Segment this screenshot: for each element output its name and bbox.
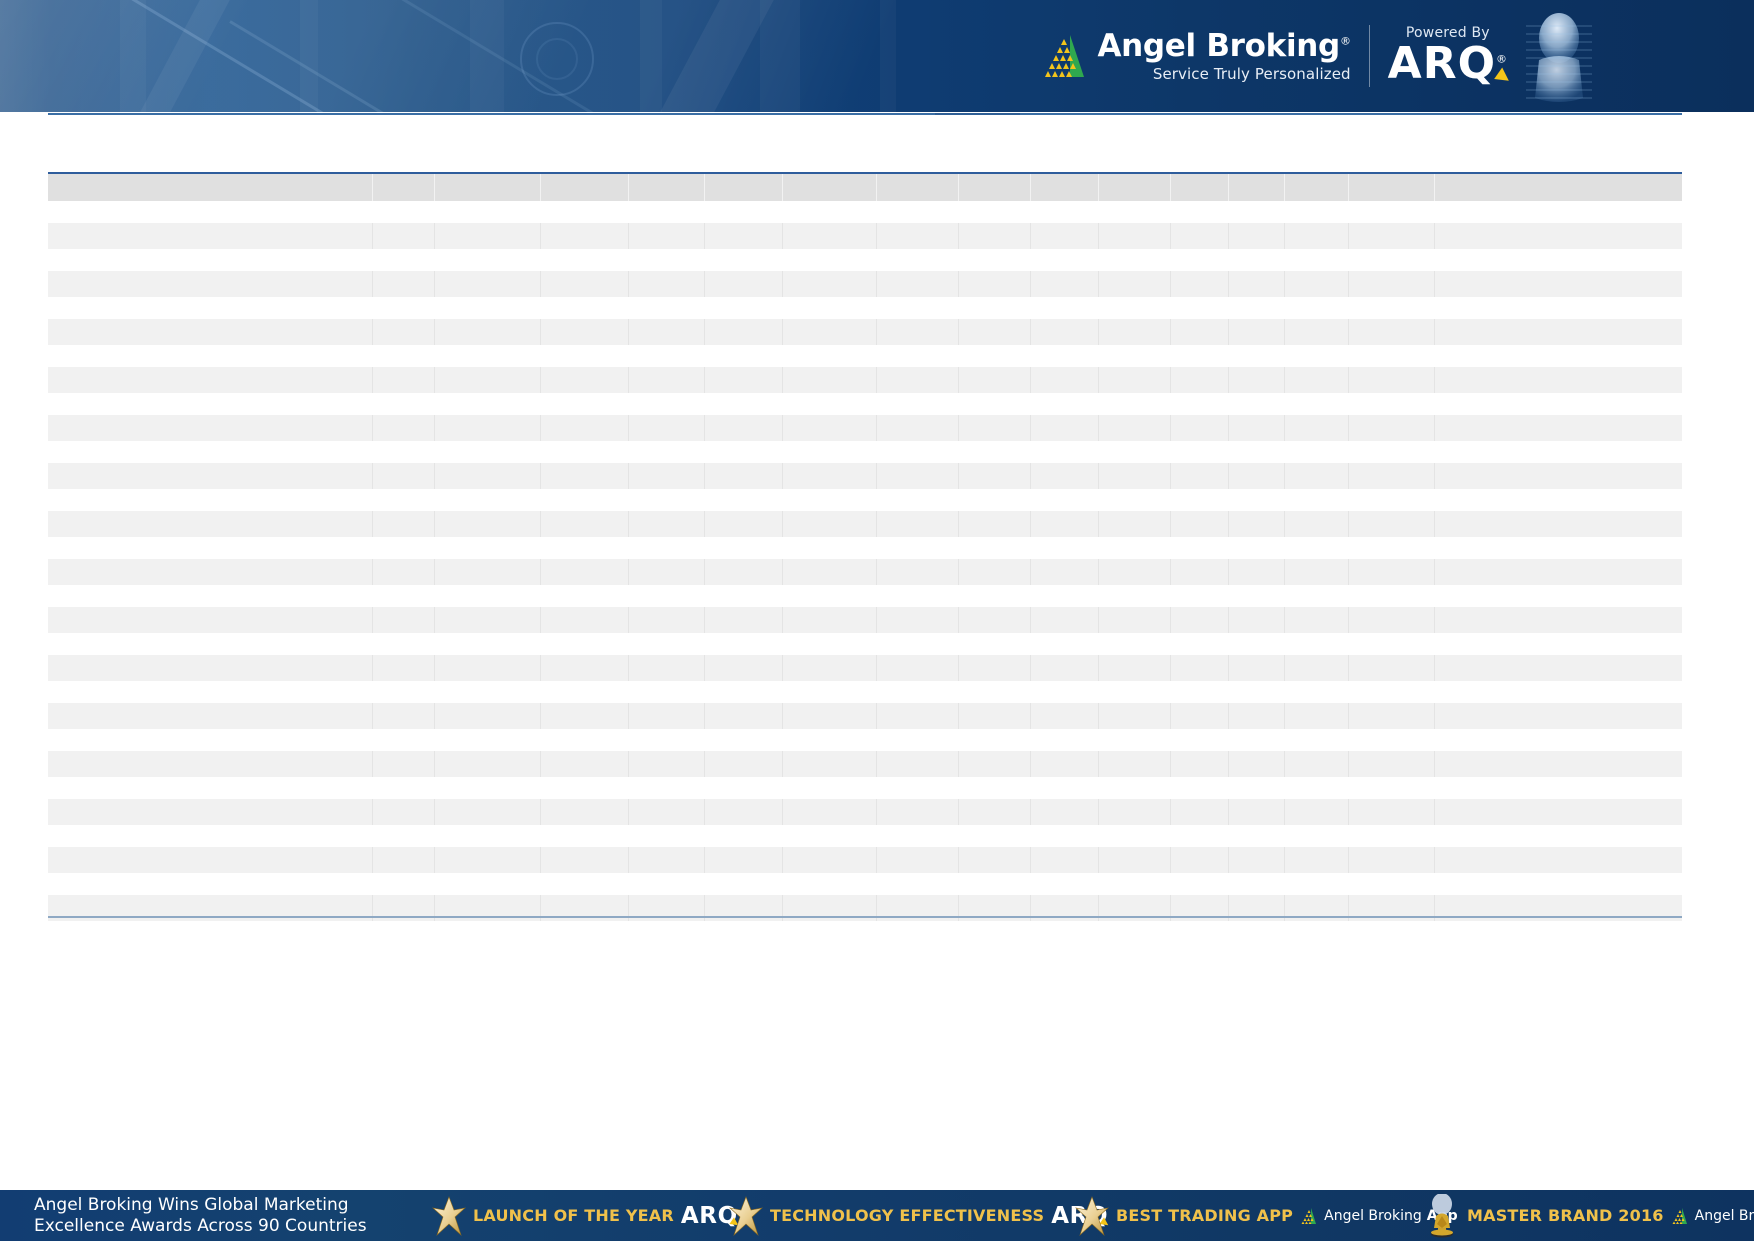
column-separator [704,607,705,633]
column-separator [372,463,373,489]
arq-name-text: ARQ [1388,38,1496,89]
arq-wordmark: ARQ® [1388,42,1508,86]
column-separator [628,223,629,249]
column-separator [1434,463,1435,489]
column-separator [540,559,541,585]
column-separator [1228,367,1229,393]
column-separator [1228,511,1229,537]
column-separator [372,367,373,393]
footer-headline-line2: Excellence Awards Across 90 Countries [34,1216,367,1237]
column-separator [1348,463,1349,489]
table-row[interactable] [48,367,1682,393]
column-separator [1284,367,1285,393]
column-separator [1098,511,1099,537]
column-separator [1098,655,1099,681]
column-separator [876,463,877,489]
column-separator [876,415,877,441]
table-row[interactable] [48,847,1682,873]
column-separator [1098,463,1099,489]
table-row[interactable] [48,799,1682,825]
column-separator [704,319,705,345]
column-separator [372,319,373,345]
column-separator [540,511,541,537]
column-separator [876,703,877,729]
column-separator [1228,559,1229,585]
column-separator [1098,847,1099,873]
column-separator [876,559,877,585]
column-separator [434,703,435,729]
column-separator [876,367,877,393]
column-separator [704,655,705,681]
column-separator [434,559,435,585]
column-separator [876,847,877,873]
column-separator [1030,703,1031,729]
column-separator [372,703,373,729]
star-icon [432,1196,466,1236]
column-separator [540,174,541,201]
column-separator [628,559,629,585]
column-separator [1098,607,1099,633]
column-separator [372,559,373,585]
award-item: BEST TRADING APP Angel BrokingApp [1075,1190,1458,1241]
column-separator [876,751,877,777]
column-separator [1348,415,1349,441]
column-separator [958,607,959,633]
column-separator [1434,511,1435,537]
column-separator [434,751,435,777]
column-separator [958,655,959,681]
column-separator [540,367,541,393]
column-separator [1030,607,1031,633]
column-separator [876,174,877,201]
column-separator [1030,799,1031,825]
table-row[interactable] [48,415,1682,441]
column-separator [1170,847,1171,873]
column-separator [958,703,959,729]
column-separator [540,655,541,681]
column-separator [704,174,705,201]
award-brand-word: Angel Broking [1324,1208,1422,1224]
column-separator [434,511,435,537]
table-row-gap [48,249,1682,271]
column-separator [1434,655,1435,681]
column-separator [434,415,435,441]
column-separator [1434,751,1435,777]
column-separator [1098,319,1099,345]
column-separator [704,415,705,441]
column-separator [434,655,435,681]
column-separator [628,655,629,681]
table-bottom-rule [48,916,1682,918]
column-separator [628,607,629,633]
column-separator [958,174,959,201]
column-separator [1284,319,1285,345]
column-separator [1284,223,1285,249]
column-separator [958,799,959,825]
column-separator [958,559,959,585]
column-separator [1030,271,1031,297]
column-separator [628,751,629,777]
arq-avatar-icon [1514,8,1604,104]
column-separator [1228,847,1229,873]
column-separator [1284,415,1285,441]
header-texture-bar [880,0,896,112]
table-row-gap [48,201,1682,223]
column-separator [1228,415,1229,441]
column-separator [1170,415,1171,441]
column-separator [434,847,435,873]
award-item: LAUNCH OF THE YEAR ARQ [432,1190,738,1241]
column-separator [1030,223,1031,249]
column-separator [782,799,783,825]
column-separator [782,703,783,729]
column-separator [1030,559,1031,585]
column-separator [1434,559,1435,585]
column-separator [540,751,541,777]
footer-headline: Angel Broking Wins Global Marketing Exce… [34,1195,367,1237]
table-row[interactable] [48,703,1682,729]
column-separator [1434,415,1435,441]
header-circle-graphic [536,38,578,80]
column-separator [704,799,705,825]
award-item: TECHNOLOGY EFFECTIVENESS ARQ [729,1190,1108,1241]
column-separator [372,511,373,537]
column-separator [782,367,783,393]
column-separator [1170,607,1171,633]
column-separator [628,174,629,201]
column-separator [876,655,877,681]
column-separator [1170,511,1171,537]
awards-footer-banner: Angel Broking Wins Global Marketing Exce… [0,1190,1754,1241]
column-separator [958,223,959,249]
column-separator [1434,799,1435,825]
trophy-icon [1424,1194,1460,1238]
column-separator [782,174,783,201]
column-separator [434,799,435,825]
table-row-gap [48,537,1682,559]
column-separator [1098,799,1099,825]
header-texture-bar [640,0,662,112]
column-separator [782,511,783,537]
column-separator [1170,223,1171,249]
column-separator [958,463,959,489]
column-separator [958,319,959,345]
column-separator [704,847,705,873]
column-separator [704,703,705,729]
column-separator [1284,463,1285,489]
column-separator [1228,703,1229,729]
column-separator [1348,607,1349,633]
column-separator [1098,559,1099,585]
footer-headline-line1: Angel Broking Wins Global Marketing [34,1195,367,1216]
column-separator [628,463,629,489]
column-separator [1228,174,1229,201]
column-separator [958,511,959,537]
table-row[interactable] [48,511,1682,537]
award-title: TECHNOLOGY EFFECTIVENESS [770,1206,1044,1225]
column-separator [782,463,783,489]
column-separator [1030,174,1031,201]
brand-name: Angel Broking® [1097,31,1350,62]
column-separator [1348,511,1349,537]
page-top-rule-segment [935,113,1020,115]
column-separator [704,751,705,777]
column-separator [1030,751,1031,777]
column-separator [434,174,435,201]
column-separator [540,223,541,249]
column-separator [1098,271,1099,297]
angel-broking-wordmark: Angel Broking® Service Truly Personalize… [1097,31,1350,82]
award-item: MASTER BRAND 2016 Angel Broking [1424,1190,1754,1241]
column-separator [1170,319,1171,345]
column-separator [782,271,783,297]
column-separator [628,367,629,393]
column-separator [1434,174,1435,201]
column-separator [540,607,541,633]
column-separator [876,319,877,345]
column-separator [782,223,783,249]
column-separator [372,415,373,441]
column-separator [704,463,705,489]
column-separator [1030,367,1031,393]
table-row-gap [48,873,1682,895]
column-separator [1170,751,1171,777]
column-separator [876,271,877,297]
column-separator [372,799,373,825]
column-separator [1170,655,1171,681]
award-title: MASTER BRAND 2016 [1467,1206,1664,1225]
column-separator [1434,319,1435,345]
column-separator [372,847,373,873]
table-row[interactable] [48,463,1682,489]
column-separator [1284,174,1285,201]
column-separator [1434,847,1435,873]
column-separator [782,847,783,873]
table-row[interactable] [48,271,1682,297]
table-body [48,201,1682,921]
angel-triangle-icon [1040,33,1086,79]
column-separator [958,271,959,297]
column-separator [1348,559,1349,585]
column-separator [434,271,435,297]
column-separator [958,415,959,441]
column-separator [876,223,877,249]
column-separator [372,223,373,249]
column-separator [628,415,629,441]
brand-name-text: Angel Broking [1097,28,1340,64]
column-separator [1170,703,1171,729]
header-texture-bar [120,0,146,112]
column-separator [628,799,629,825]
column-separator [1170,174,1171,201]
column-separator [1284,799,1285,825]
column-separator [1434,607,1435,633]
column-separator [782,655,783,681]
column-separator [1284,751,1285,777]
column-separator [540,463,541,489]
table-header-row [48,174,1682,201]
table-row-gap [48,345,1682,367]
column-separator [540,415,541,441]
table-row[interactable] [48,751,1682,777]
table-row-gap [48,729,1682,751]
column-separator [372,174,373,201]
column-separator [372,751,373,777]
column-separator [1098,703,1099,729]
column-separator [1434,223,1435,249]
column-separator [1284,607,1285,633]
column-separator [782,415,783,441]
header-texture-bar [760,0,800,112]
column-separator [1228,607,1229,633]
column-separator [1098,223,1099,249]
report-table [48,172,1682,921]
table-row[interactable] [48,559,1682,585]
column-separator [1228,751,1229,777]
column-separator [1228,271,1229,297]
column-separator [1170,559,1171,585]
column-separator [1434,367,1435,393]
column-separator [782,607,783,633]
column-separator [372,655,373,681]
star-icon [1075,1196,1109,1236]
header-diagonal-streak [229,20,556,112]
column-separator [1348,319,1349,345]
column-separator [1030,655,1031,681]
angel-broking-logo: Angel Broking® Service Truly Personalize… [1040,31,1350,82]
column-separator [434,367,435,393]
column-separator [704,559,705,585]
column-separator [1348,799,1349,825]
column-separator [628,847,629,873]
header-banner: Angel Broking® Service Truly Personalize… [0,0,1754,112]
column-separator [540,799,541,825]
column-separator [958,847,959,873]
column-separator [1030,319,1031,345]
page-top-rule [48,113,1682,115]
table-row-gap [48,297,1682,319]
column-separator [628,511,629,537]
column-separator [434,223,435,249]
column-separator [540,319,541,345]
header-texture-streak [660,0,774,112]
column-separator [540,847,541,873]
column-separator [540,271,541,297]
column-separator [1228,223,1229,249]
column-separator [1348,751,1349,777]
column-separator [1228,319,1229,345]
column-separator [434,319,435,345]
column-separator [1284,655,1285,681]
column-separator [1228,463,1229,489]
column-separator [782,559,783,585]
table-row[interactable] [48,319,1682,345]
column-separator [1030,511,1031,537]
column-separator [1098,367,1099,393]
column-separator [1348,367,1349,393]
column-separator [876,607,877,633]
column-separator [1170,367,1171,393]
table-row-gap [48,633,1682,655]
column-separator [782,319,783,345]
table-row-gap [48,777,1682,799]
column-separator [876,799,877,825]
table-row[interactable] [48,655,1682,681]
table-row-gap [48,585,1682,607]
table-row-gap [48,681,1682,703]
column-separator [704,271,705,297]
column-separator [1098,174,1099,201]
column-separator [1284,847,1285,873]
table-row-gap [48,393,1682,415]
column-separator [704,223,705,249]
logo-divider [1369,25,1370,87]
column-separator [372,607,373,633]
column-separator [1434,703,1435,729]
arq-registered-mark: ® [1496,52,1508,65]
angel-triangle-icon [1300,1208,1317,1224]
column-separator [704,511,705,537]
award-brand-label: Angel Broking [1695,1208,1754,1224]
column-separator [434,607,435,633]
table-row-gap [48,825,1682,847]
column-separator [1284,271,1285,297]
award-brand-word: Angel Broking [1695,1208,1754,1224]
angel-triangle-icon [1671,1208,1688,1224]
column-separator [1030,415,1031,441]
column-separator [1348,655,1349,681]
column-separator [1348,703,1349,729]
column-separator [958,367,959,393]
column-separator [1348,271,1349,297]
header-texture-bar [300,0,318,112]
star-icon [729,1196,763,1236]
header-texture-streak [140,0,230,112]
column-separator [1228,655,1229,681]
column-separator [1170,463,1171,489]
table-row-gap [48,441,1682,463]
brand-registered-mark: ® [1340,34,1351,47]
column-separator [372,271,373,297]
column-separator [628,271,629,297]
brand-logo-lockup: Angel Broking® Service Truly Personalize… [1040,14,1508,98]
table-row-gap [48,489,1682,511]
column-separator [1098,751,1099,777]
column-separator [1030,847,1031,873]
column-separator [1348,847,1349,873]
arq-logo: Powered By ARQ® [1388,26,1508,86]
table-row[interactable] [48,223,1682,249]
column-separator [958,751,959,777]
column-separator [1348,174,1349,201]
column-separator [540,703,541,729]
column-separator [1098,415,1099,441]
award-title: LAUNCH OF THE YEAR [473,1206,674,1225]
column-separator [1284,559,1285,585]
column-separator [1170,271,1171,297]
column-separator [628,703,629,729]
column-separator [1228,799,1229,825]
brand-tagline: Service Truly Personalized [1097,67,1350,82]
table-row[interactable] [48,607,1682,633]
arq-q-tail-icon [1494,68,1513,87]
column-separator [1434,271,1435,297]
column-separator [876,511,877,537]
column-separator [434,463,435,489]
column-separator [1348,223,1349,249]
column-separator [782,751,783,777]
award-title: BEST TRADING APP [1116,1206,1293,1225]
